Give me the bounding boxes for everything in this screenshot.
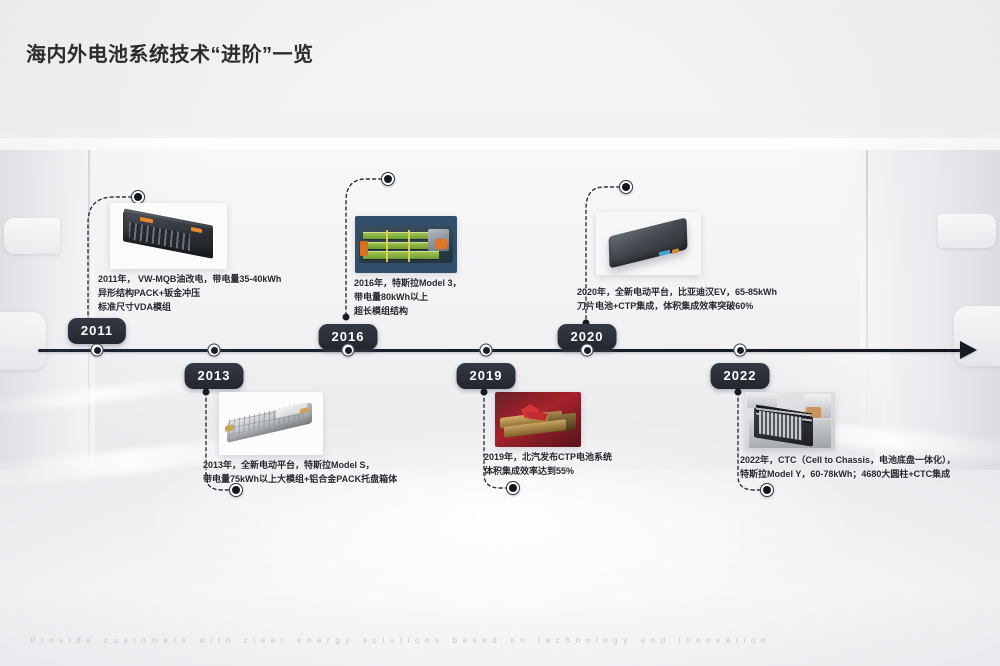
event-description-2020: 2020年，全新电动平台，比亚迪汉EV，65-85kWh 刀片电池+CTP集成，…	[577, 286, 777, 314]
event-image-2011	[110, 203, 227, 269]
event-description-line: 超长模组结构	[354, 305, 462, 319]
year-pill-2022[interactable]: 2022	[711, 363, 770, 389]
event-description-line: 2013年，全新电动平台，特斯拉Model S，	[203, 459, 397, 473]
timeline-event-2022[interactable]: 2022 2022年，CTC（Cell to Chassis，电池底盘一体化），…	[0, 0, 90, 58]
connector-top-dot-2019	[481, 389, 488, 396]
axis-node-2019	[480, 344, 493, 357]
connector-top-node-2020	[619, 180, 633, 194]
event-description-line: 带电量75kWh以上大模组+铝合金PACK托盘箱体	[203, 473, 397, 487]
event-image-2019	[495, 392, 581, 447]
connector-top-node-2016	[381, 172, 395, 186]
connector-bottom-node-2019	[506, 481, 520, 495]
event-description-line: 标准尺寸VDA模组	[98, 301, 281, 315]
connector-bottom-node-2022	[760, 483, 774, 497]
background-stage	[0, 0, 1000, 666]
axis-node-2011	[91, 344, 104, 357]
event-description-line: 特斯拉Model Y，60-78kWh；4680大圆柱+CTC集成	[740, 468, 956, 482]
axis-node-2013	[208, 344, 221, 357]
event-image-2016	[355, 216, 457, 273]
connector-top-dot-2013	[203, 389, 210, 396]
event-description-line: 2019年，北汽发布CTP电池系统	[484, 451, 612, 465]
event-description-line: 2020年，全新电动平台，比亚迪汉EV，65-85kWh	[577, 286, 777, 300]
event-description-line: 2011年， VW-MQB油改电，带电量35-40kWh	[98, 273, 281, 287]
event-description-2013: 2013年，全新电动平台，特斯拉Model S， 带电量75kWh以上大模组+铝…	[203, 459, 397, 487]
event-description-line: 异形结构PACK+钣金冲压	[98, 287, 281, 301]
event-description-2022: 2022年，CTC（Cell to Chassis，电池底盘一体化）， 特斯拉M…	[740, 454, 956, 482]
footer-tagline: Provide customers with clear energy solu…	[30, 636, 970, 645]
event-image-2013	[219, 392, 323, 455]
year-pill-2019[interactable]: 2019	[457, 363, 516, 389]
event-image-2020	[596, 212, 701, 275]
event-description-2011: 2011年， VW-MQB油改电，带电量35-40kWh 异形结构PACK+钣金…	[98, 273, 281, 315]
connector-top-dot-2022	[735, 389, 742, 396]
year-pill-2013[interactable]: 2013	[185, 363, 244, 389]
axis-node-2022	[734, 344, 747, 357]
axis-node-2016	[342, 344, 355, 357]
connector-bottom-dot-2016	[343, 314, 350, 321]
event-image-2022	[745, 392, 835, 450]
event-description-2019: 2019年，北汽发布CTP电池系统 体积集成效率达到55%	[484, 451, 612, 479]
connector-top-node-2011	[131, 190, 145, 204]
event-description-2016: 2016年，特斯拉Model 3， 带电量80kWh以上 超长模组结构	[354, 277, 462, 319]
axis-node-2020	[581, 344, 594, 357]
event-description-line: 2016年，特斯拉Model 3，	[354, 277, 462, 291]
event-description-line: 2022年，CTC（Cell to Chassis，电池底盘一体化），	[740, 454, 956, 468]
background-vignette	[0, 0, 1000, 666]
year-pill-2011[interactable]: 2011	[68, 318, 126, 344]
event-description-line: 带电量80kWh以上	[354, 291, 462, 305]
event-description-line: 刀片电池+CTP集成，体积集成效率突破60%	[577, 300, 777, 314]
event-description-line: 体积集成效率达到55%	[484, 465, 612, 479]
